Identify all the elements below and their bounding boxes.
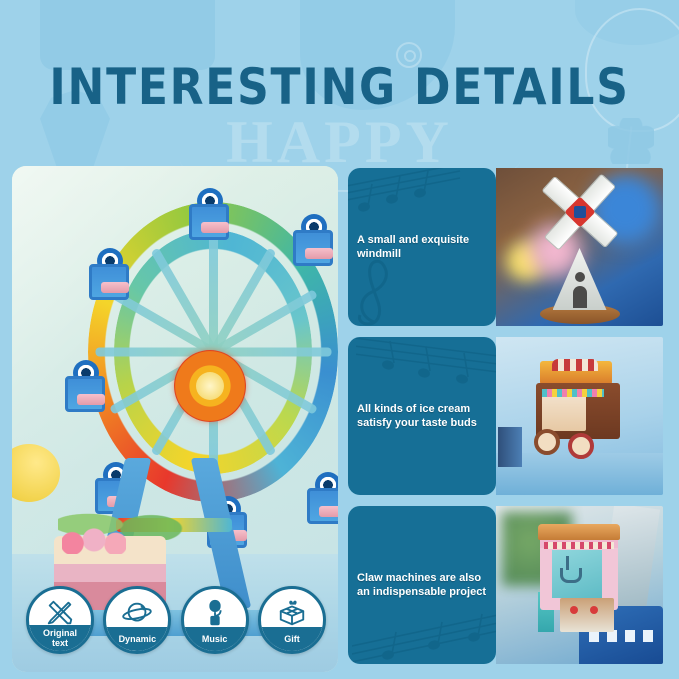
card-caption: A small and exquisite windmill bbox=[357, 233, 488, 261]
ferris-wheel bbox=[78, 202, 338, 502]
flower-icon bbox=[608, 118, 654, 164]
claw-machine-photo bbox=[496, 506, 663, 664]
gondola bbox=[186, 190, 232, 242]
badge-music[interactable]: Music bbox=[181, 586, 249, 654]
planet-icon bbox=[106, 595, 168, 631]
badge-label: Originaltext bbox=[29, 625, 91, 651]
badge-label: Gift bbox=[261, 627, 323, 651]
page-title: INTERESTING DETAILS bbox=[41, 58, 639, 116]
card-caption: All kinds of ice cream satisfy your tast… bbox=[357, 402, 477, 430]
music-notes-icon bbox=[352, 594, 496, 664]
product-detail-banner: HAPPY INTERESTING DETAILS bbox=[0, 0, 679, 679]
badge-gift[interactable]: Gift bbox=[258, 586, 326, 654]
feature-card-windmill: A small and exquisite windmill bbox=[348, 168, 663, 326]
badge-dynamic[interactable]: Dynamic bbox=[103, 586, 171, 654]
treble-clef-icon bbox=[348, 250, 418, 326]
music-notes-icon bbox=[356, 337, 496, 407]
feature-card-ice-cream: All kinds of ice cream satisfy your tast… bbox=[348, 337, 663, 495]
microphone-icon bbox=[184, 595, 246, 631]
gondola bbox=[290, 216, 336, 268]
badge-label: Music bbox=[184, 627, 246, 651]
ice-cream-scoops bbox=[62, 528, 126, 554]
badge-label: Dynamic bbox=[106, 627, 168, 651]
gondola bbox=[62, 362, 108, 414]
feature-card-claw-machine: Claw machines are also an indispensable … bbox=[348, 506, 663, 664]
caption-panel: A small and exquisite windmill bbox=[348, 168, 496, 326]
badge-original-text[interactable]: Originaltext bbox=[26, 586, 94, 654]
feature-badge-row: Originaltext Dynamic bbox=[26, 586, 326, 658]
card-caption: Claw machines are also an indispensable … bbox=[357, 571, 486, 599]
caption-panel: Claw machines are also an indispensable … bbox=[348, 506, 496, 664]
wheel-hub bbox=[174, 350, 246, 422]
caption-panel: All kinds of ice cream satisfy your tast… bbox=[348, 337, 496, 495]
music-notes-icon bbox=[348, 168, 462, 232]
background-shape-3 bbox=[575, 0, 679, 45]
windmill-model-photo bbox=[496, 168, 663, 326]
gondola bbox=[304, 474, 338, 526]
gift-box-icon bbox=[261, 595, 323, 631]
gondola bbox=[86, 250, 132, 302]
ice-cream-cart-photo bbox=[496, 337, 663, 495]
